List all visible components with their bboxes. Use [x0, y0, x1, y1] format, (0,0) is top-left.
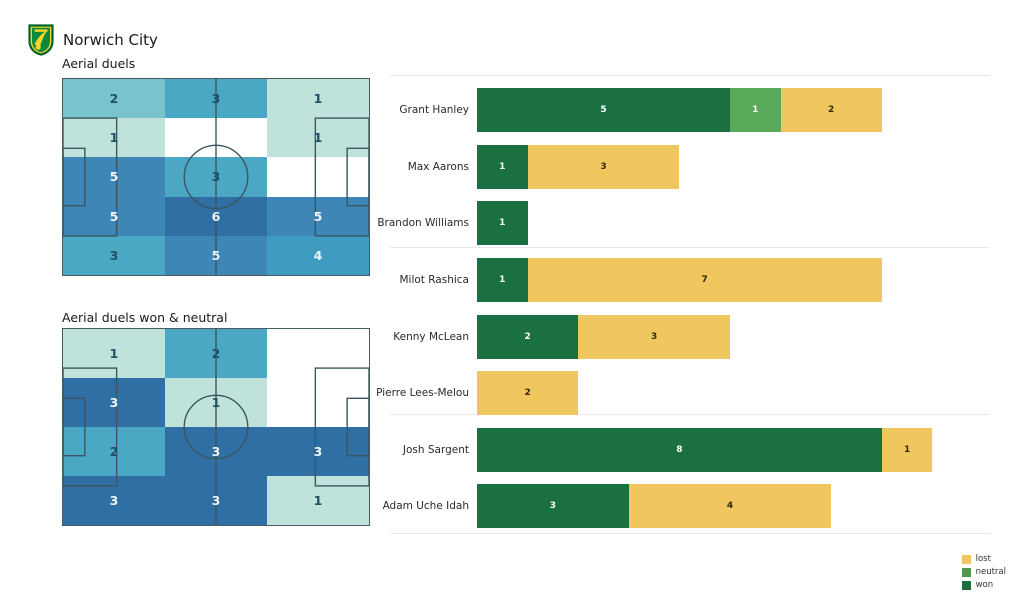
bar-segment-neutral[interactable]: 1 [730, 88, 781, 132]
legend-swatch-lost [962, 555, 971, 564]
pitch-cell: 4 [267, 236, 369, 275]
legend-item-won[interactable]: won [962, 580, 1006, 590]
pitch-cell-value: 1 [314, 91, 323, 106]
pitch-cell-value: 3 [110, 248, 119, 263]
bar-track: 13 [477, 145, 679, 189]
aerial-duels-bar-chart: Grant Hanley512Max Aarons13Brandon Willi… [385, 60, 1000, 540]
pitch-cell: 5 [63, 197, 165, 236]
pitch-cell: 2 [165, 329, 267, 378]
pitch-cell: 2 [63, 79, 165, 118]
bar-segment-won[interactable]: 1 [477, 258, 528, 302]
pitch-cell-value: 3 [212, 91, 221, 106]
pitch-cell: 3 [165, 476, 267, 525]
bar-segment-won[interactable]: 1 [477, 201, 528, 245]
group-separator [390, 247, 990, 248]
bar-track: 2 [477, 371, 578, 415]
pitch-heatmap-aerial-duels-won-neutral: 1231233331 [62, 328, 370, 526]
pitch-cell-value: 3 [110, 395, 119, 410]
bar-segment-lost[interactable]: 4 [629, 484, 831, 528]
bar-track: 512 [477, 88, 882, 132]
pitch-cell-value: 4 [314, 248, 323, 263]
bar-track: 17 [477, 258, 882, 302]
legend-swatch-neutral [962, 568, 971, 577]
pitch-cell-value: 1 [110, 130, 119, 145]
bar-row-label: Pierre Lees-Melou [376, 387, 469, 399]
bar-row[interactable]: Milot Rashica17 [385, 258, 995, 302]
pitch-cell: 3 [63, 236, 165, 275]
bar-segment-lost[interactable]: 2 [781, 88, 882, 132]
bar-segment-won[interactable]: 2 [477, 315, 578, 359]
legend-label: neutral [976, 567, 1006, 577]
pitch-cell-value: 2 [110, 91, 119, 106]
bar-row-label: Brandon Williams [377, 217, 469, 229]
bar-row-label: Kenny McLean [393, 331, 469, 343]
bar-row[interactable]: Kenny McLean23 [385, 315, 995, 359]
pitch-cell: 1 [267, 118, 369, 157]
pitch-cell: 3 [165, 79, 267, 118]
bar-row[interactable]: Grant Hanley512 [385, 88, 995, 132]
bar-segment-won[interactable]: 5 [477, 88, 730, 132]
pitch-cell: 1 [267, 79, 369, 118]
group-separator [390, 75, 990, 76]
pitch-cell: 1 [267, 476, 369, 525]
pitch-cell: 1 [63, 118, 165, 157]
pitch-cell-value: 6 [212, 209, 221, 224]
legend-label: lost [976, 554, 991, 564]
pitch-cell: 3 [63, 476, 165, 525]
bar-track: 23 [477, 315, 730, 359]
bar-segment-lost[interactable]: 2 [477, 371, 578, 415]
bar-segment-won[interactable]: 8 [477, 428, 882, 472]
pitch-cell: 3 [165, 427, 267, 476]
pitch-cell-value: 1 [314, 130, 323, 145]
dashboard-root: Norwich City Aerial duels 2311153565354 … [0, 0, 1024, 602]
legend-item-lost[interactable]: lost [962, 554, 1006, 564]
pitch-cell-value: 2 [212, 346, 221, 361]
bar-row-label: Josh Sargent [403, 444, 469, 456]
pitch-cell: 1 [63, 329, 165, 378]
legend-item-neutral[interactable]: neutral [962, 567, 1006, 577]
pitch-cell [267, 157, 369, 196]
pitch-cell-value: 5 [110, 209, 119, 224]
pitch-cell-value: 2 [110, 444, 119, 459]
pitch-cell: 1 [165, 378, 267, 427]
pitch-heatmap-aerial-duels: 2311153565354 [62, 78, 370, 276]
pitch-cell-value: 5 [314, 209, 323, 224]
legend-label: won [976, 580, 994, 590]
pitch-cell-value: 5 [212, 248, 221, 263]
pitch-cell-value: 1 [110, 346, 119, 361]
group-separator [390, 533, 990, 534]
pitch-cell-grid: 2311153565354 [63, 79, 369, 275]
norwich-city-crest-icon [28, 24, 54, 56]
bar-segment-lost[interactable]: 3 [578, 315, 730, 359]
bar-row-label: Grant Hanley [399, 104, 469, 116]
bar-row[interactable]: Josh Sargent81 [385, 428, 995, 472]
pitch-cell-value: 1 [314, 493, 323, 508]
pitch-cell: 2 [63, 427, 165, 476]
pitch-cell-value: 3 [110, 493, 119, 508]
pitch-cell [165, 118, 267, 157]
bar-row-label: Max Aarons [408, 161, 469, 173]
bar-segment-lost[interactable]: 1 [882, 428, 933, 472]
chart-legend: lostneutralwon [962, 554, 1006, 590]
bar-row[interactable]: Pierre Lees-Melou2 [385, 371, 995, 415]
team-header: Norwich City [28, 24, 158, 56]
pitch-cell [267, 378, 369, 427]
pitch-cell-value: 3 [212, 444, 221, 459]
bar-segment-lost[interactable]: 3 [528, 145, 680, 189]
pitch-cell-grid: 1231233331 [63, 329, 369, 525]
pitch-cell: 5 [267, 197, 369, 236]
legend-swatch-won [962, 581, 971, 590]
pitch-cell [267, 329, 369, 378]
pitch-cell: 3 [165, 157, 267, 196]
bar-row[interactable]: Adam Uche Idah34 [385, 484, 995, 528]
bar-row[interactable]: Max Aarons13 [385, 145, 995, 189]
pitch-cell-value: 3 [314, 444, 323, 459]
bar-track: 1 [477, 201, 528, 245]
bar-track: 34 [477, 484, 831, 528]
pitch-cell: 5 [63, 157, 165, 196]
bar-track: 81 [477, 428, 932, 472]
pitch-cell: 5 [165, 236, 267, 275]
panel-title-aerial-duels-won-neutral: Aerial duels won & neutral [62, 310, 227, 325]
pitch-cell: 6 [165, 197, 267, 236]
bar-segment-won[interactable]: 3 [477, 484, 629, 528]
bar-row[interactable]: Brandon Williams1 [385, 201, 995, 245]
pitch-cell-value: 1 [212, 395, 221, 410]
bar-row-label: Milot Rashica [399, 274, 469, 286]
team-name: Norwich City [63, 33, 158, 48]
bar-segment-won[interactable]: 1 [477, 145, 528, 189]
bar-row-label: Adam Uche Idah [383, 500, 469, 512]
pitch-cell-value: 3 [212, 169, 221, 184]
pitch-cell: 3 [63, 378, 165, 427]
bar-segment-lost[interactable]: 7 [528, 258, 882, 302]
pitch-cell-value: 5 [110, 169, 119, 184]
pitch-cell: 3 [267, 427, 369, 476]
panel-title-aerial-duels: Aerial duels [62, 56, 135, 71]
pitch-cell-value: 3 [212, 493, 221, 508]
